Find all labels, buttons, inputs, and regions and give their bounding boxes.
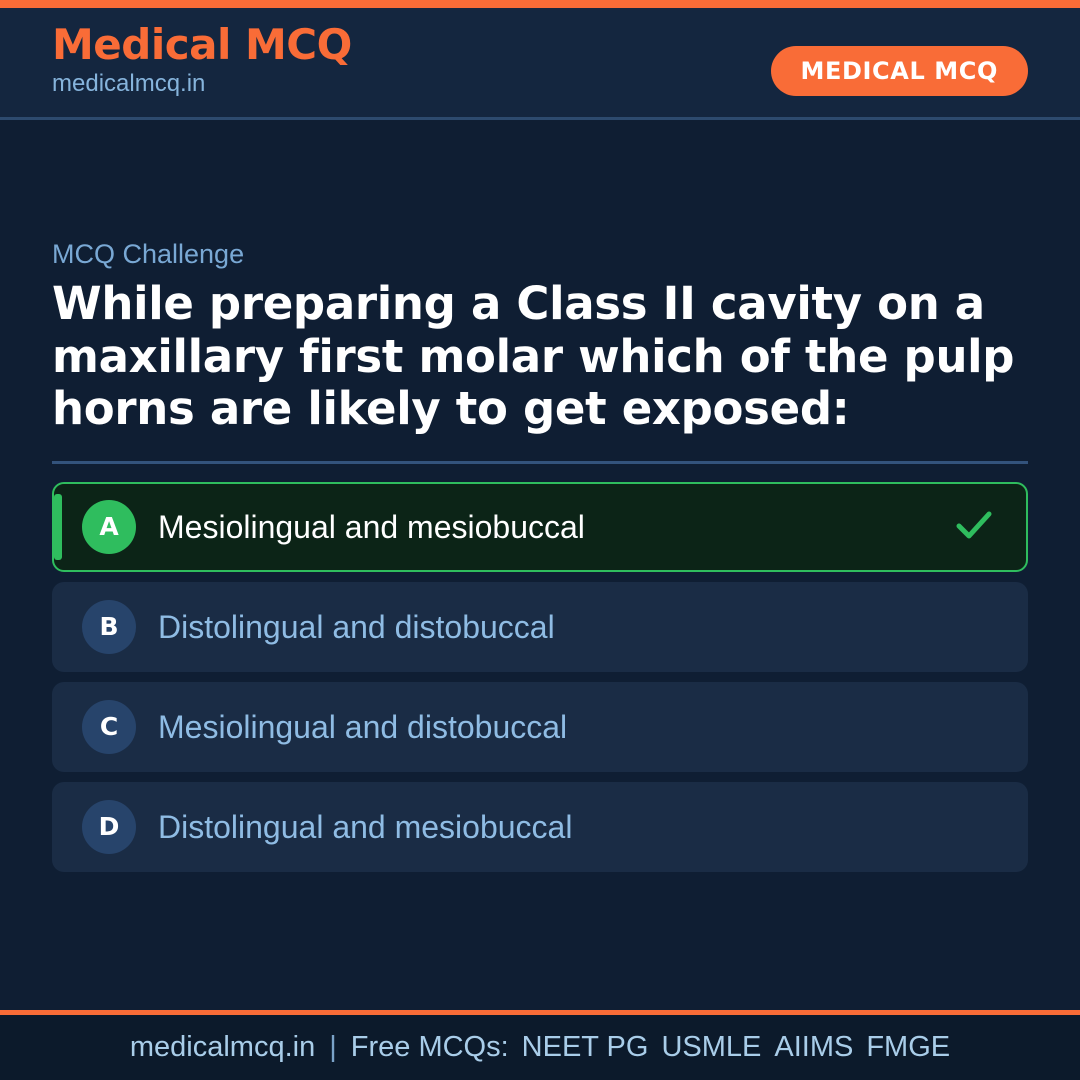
- eyebrow-label: MCQ Challenge: [52, 238, 1028, 270]
- brand-block: Medical MCQ medicalmcq.in: [52, 22, 352, 98]
- header-badge[interactable]: MEDICAL MCQ: [771, 46, 1028, 96]
- option-row-a[interactable]: A Mesiolingual and mesiobuccal: [52, 482, 1028, 572]
- page-footer: medicalmcq.in | Free MCQs: NEET PG USMLE…: [0, 1015, 1080, 1080]
- footer-tag-neet-pg[interactable]: NEET PG: [509, 1031, 649, 1064]
- top-accent-bar: [0, 0, 1080, 8]
- footer-text: medicalmcq.in | Free MCQs: NEET PG USMLE…: [130, 1031, 950, 1064]
- option-badge-d: D: [82, 800, 136, 854]
- option-label-d: Distolingual and mesiobuccal: [158, 808, 572, 846]
- section-divider: [52, 461, 1028, 464]
- option-label-b: Distolingual and distobuccal: [158, 608, 555, 646]
- option-label-a: Mesiolingual and mesiobuccal: [158, 508, 585, 546]
- footer-site[interactable]: medicalmcq.in: [130, 1031, 315, 1064]
- option-row-c[interactable]: C Mesiolingual and distobuccal: [52, 682, 1028, 772]
- footer-prefix: Free MCQs:: [351, 1031, 509, 1064]
- question-text: While preparing a Class II cavity on a m…: [52, 278, 1028, 435]
- option-badge-b: B: [82, 600, 136, 654]
- footer-tag-usmle[interactable]: USMLE: [648, 1031, 761, 1064]
- correct-accent-bar: [54, 494, 62, 560]
- option-badge-a: A: [82, 500, 136, 554]
- option-row-d[interactable]: D Distolingual and mesiobuccal: [52, 782, 1028, 872]
- brand-title: Medical MCQ: [52, 22, 352, 68]
- option-label-c: Mesiolingual and distobuccal: [158, 708, 567, 746]
- footer-separator: |: [315, 1031, 351, 1064]
- check-icon: [956, 510, 992, 544]
- main-content: MCQ Challenge While preparing a Class II…: [0, 123, 1080, 1010]
- footer-tag-aiims[interactable]: AIIMS: [761, 1031, 853, 1064]
- brand-subtitle: medicalmcq.in: [52, 70, 352, 98]
- footer-tag-fmge[interactable]: FMGE: [853, 1031, 950, 1064]
- page-header: Medical MCQ medicalmcq.in MEDICAL MCQ: [0, 8, 1080, 120]
- option-badge-c: C: [82, 700, 136, 754]
- question-panel: MCQ Challenge While preparing a Class II…: [52, 238, 1028, 872]
- options-list: A Mesiolingual and mesiobuccal B Distoli…: [52, 482, 1028, 872]
- option-row-b[interactable]: B Distolingual and distobuccal: [52, 582, 1028, 672]
